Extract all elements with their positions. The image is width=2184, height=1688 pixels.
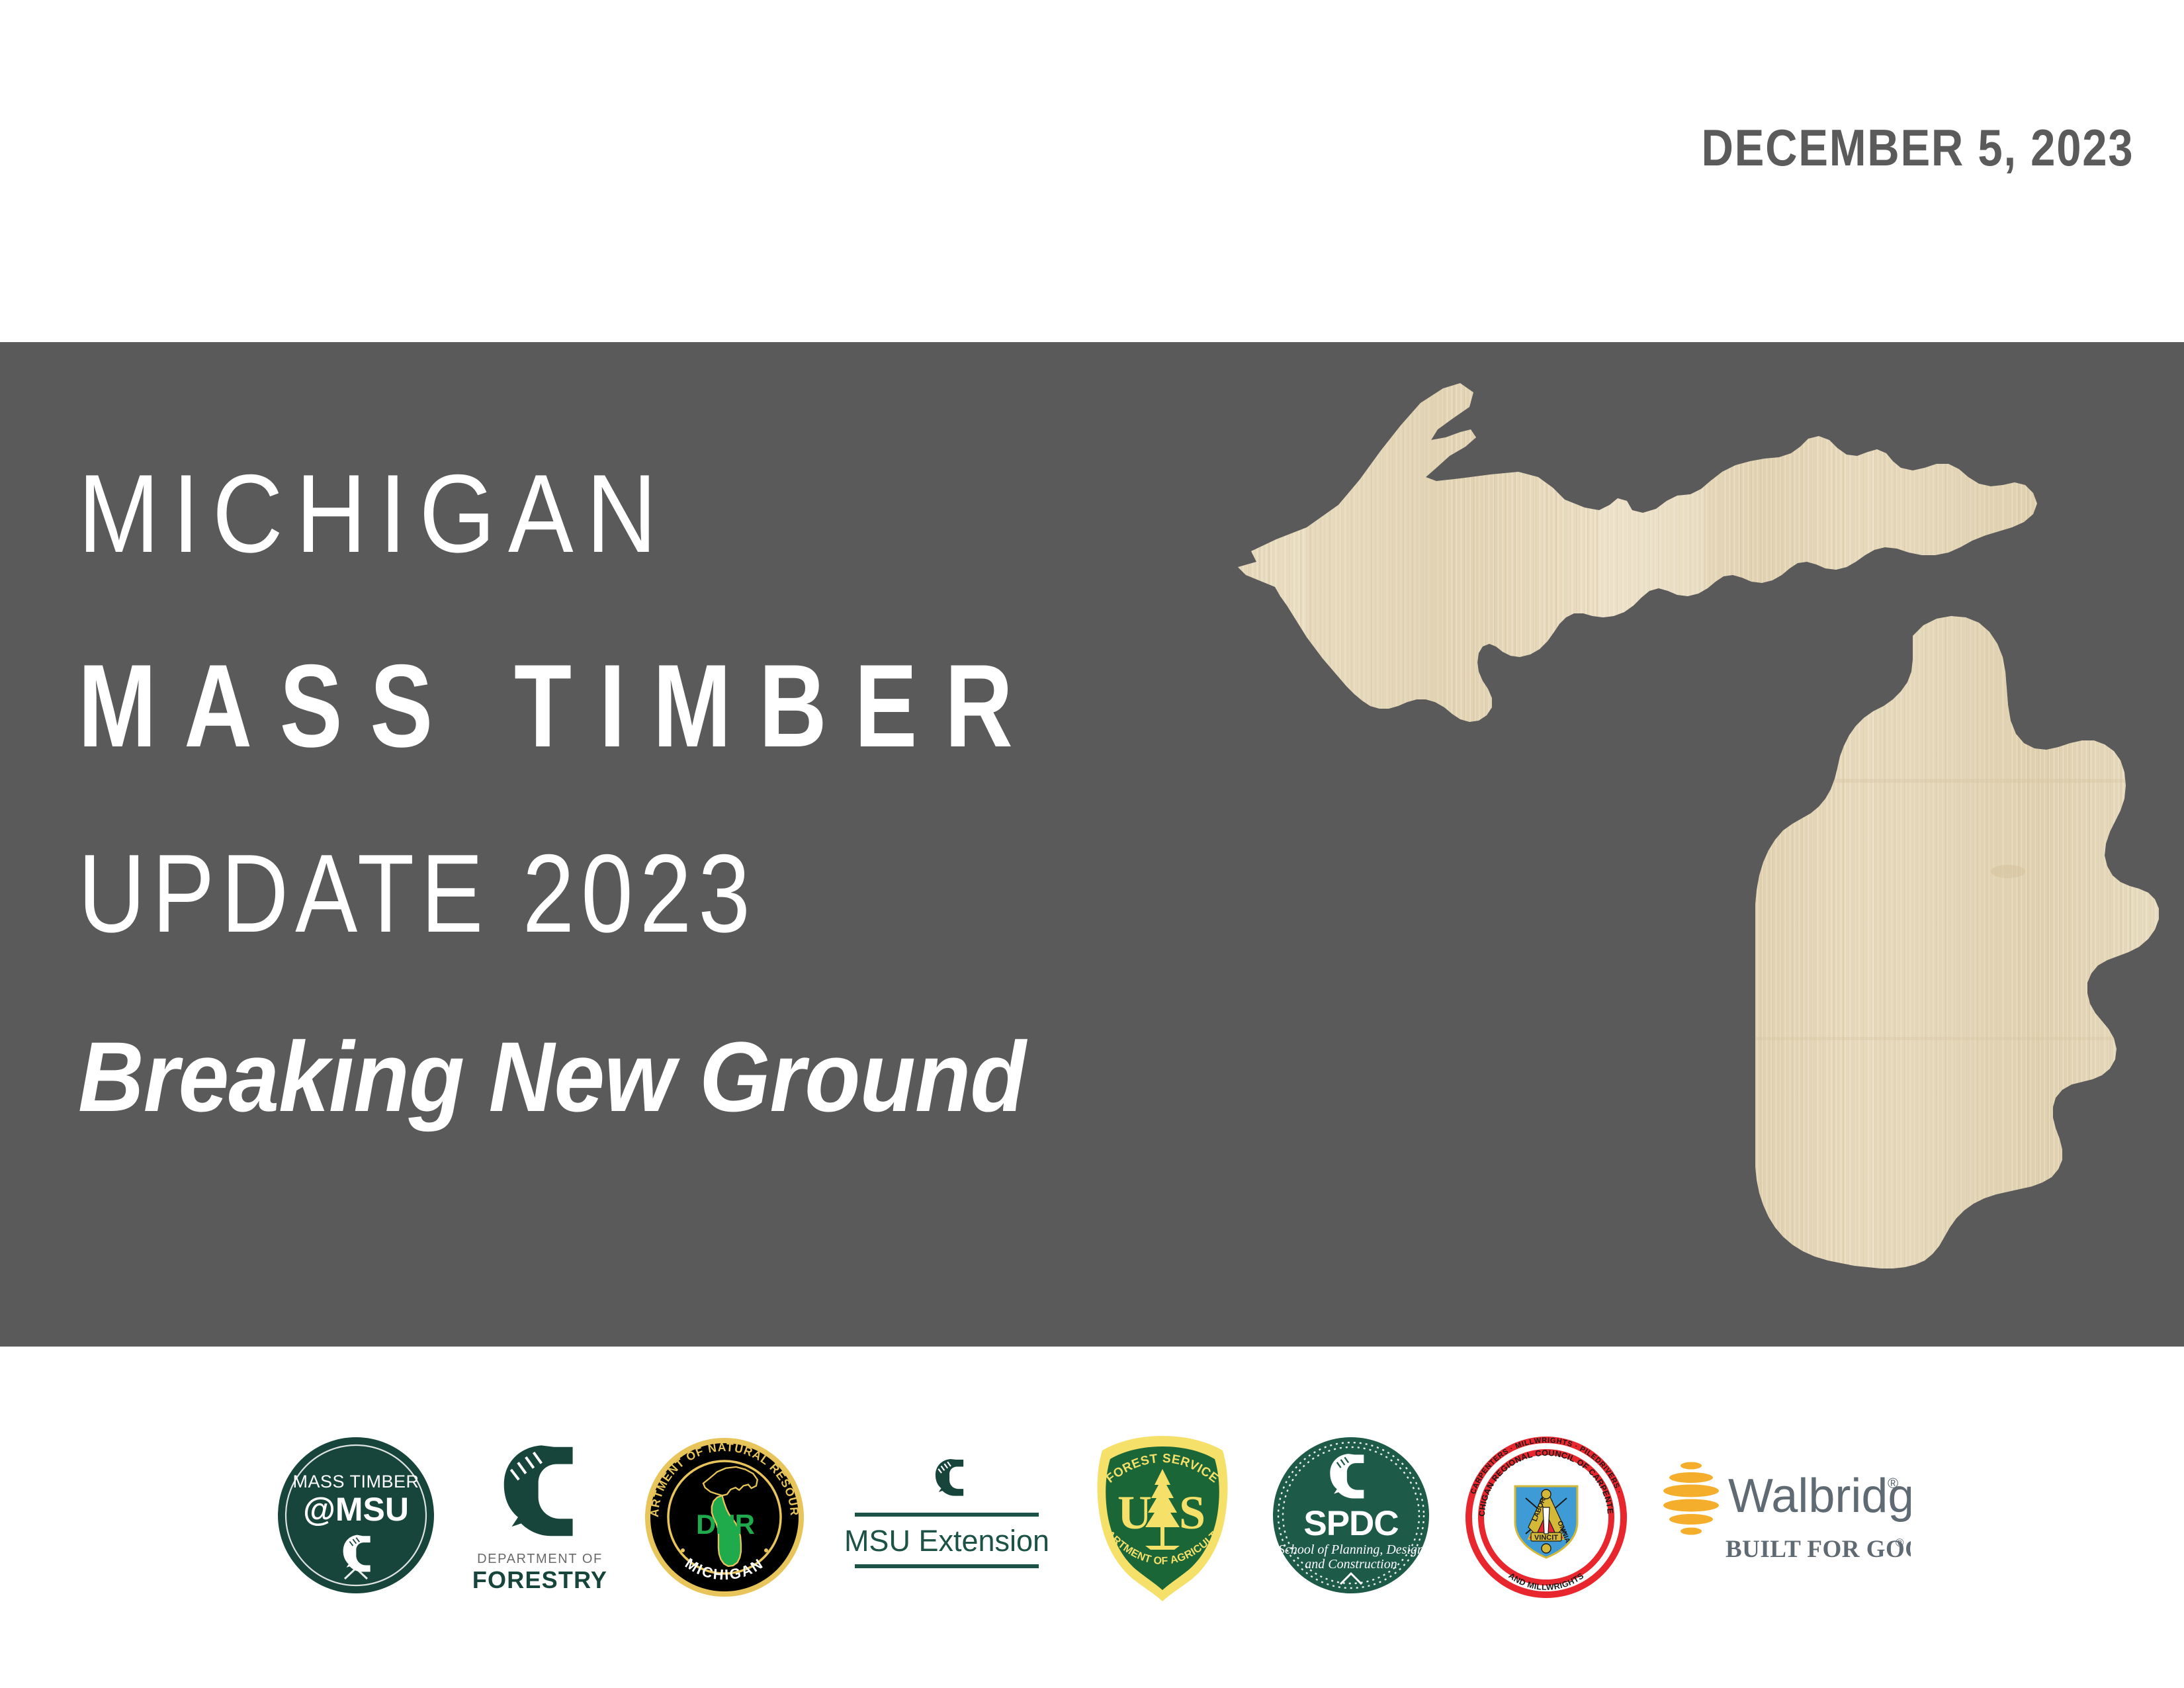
svg-text:VINCIT: VINCIT [1534,1534,1558,1542]
title-line-michigan: MICHIGAN [78,458,1272,569]
title-line-mass-timber: MASS TIMBER [78,647,1163,765]
svg-text:DNR: DNR [696,1509,755,1540]
title-block: MICHIGAN MASS TIMBER UPDATE 2023 Breakin… [78,458,1434,1126]
logo-walbridge: Walbridge ® BUILT FOR GOOD ® [1659,1418,1911,1617]
sponsor-logo-strip: MASS TIMBER @MSU DEPARTMENT OF FORESTRY [0,1347,2184,1688]
svg-text:and Construction: and Construction [1305,1557,1397,1572]
svg-text:SPDC: SPDC [1303,1504,1398,1543]
logo-carpenters-council: CARPENTERS · MILLWRIGHTS · PILEDRIVERS ·… [1463,1418,1629,1617]
slide-subtitle: Breaking New Ground [78,1027,1326,1126]
logo-us-forest-service: FOREST SERVICE U S DEPARTMENT OF AGRICUL… [1086,1418,1239,1617]
logo-msu-spdc: SPDC School of Planning, Design and Cons… [1269,1418,1433,1617]
svg-text:MASS TIMBER: MASS TIMBER [292,1472,419,1491]
svg-text:@MSU: @MSU [303,1491,409,1528]
svg-text:MSU Extension: MSU Extension [844,1524,1049,1558]
svg-text:S: S [1179,1486,1205,1539]
walbridge-mark [1663,1462,1719,1535]
logo-msu-extension: MSU Extension [838,1418,1056,1617]
slide-date: DECEMBER 5, 2023 [1701,118,2134,178]
date-header-bar: DECEMBER 5, 2023 [0,0,2184,342]
logo-mass-timber-msu: MASS TIMBER @MSU [273,1418,439,1617]
svg-text:®: ® [1896,1536,1904,1549]
svg-text:FORESTRY: FORESTRY [472,1566,607,1593]
svg-text:U: U [1117,1486,1152,1539]
svg-text:BUILT FOR GOOD: BUILT FOR GOOD [1725,1536,1911,1563]
svg-text:DEPARTMENT OF: DEPARTMENT OF [477,1552,603,1566]
svg-text:®: ® [1888,1475,1898,1491]
hero-panel: MICHIGAN MASS TIMBER UPDATE 2023 Breakin… [0,342,2184,1347]
logo-michigan-dnr: DEPARTMENT OF NATURAL RESOURCES MICHIGAN… [642,1418,807,1617]
svg-text:School of Planning, Design: School of Planning, Design [1278,1542,1424,1557]
logo-msu-forestry: DEPARTMENT OF FORESTRY [469,1418,611,1617]
svg-text:Walbridge: Walbridge [1728,1470,1911,1523]
title-line-update-2023: UPDATE 2023 [78,838,1217,949]
